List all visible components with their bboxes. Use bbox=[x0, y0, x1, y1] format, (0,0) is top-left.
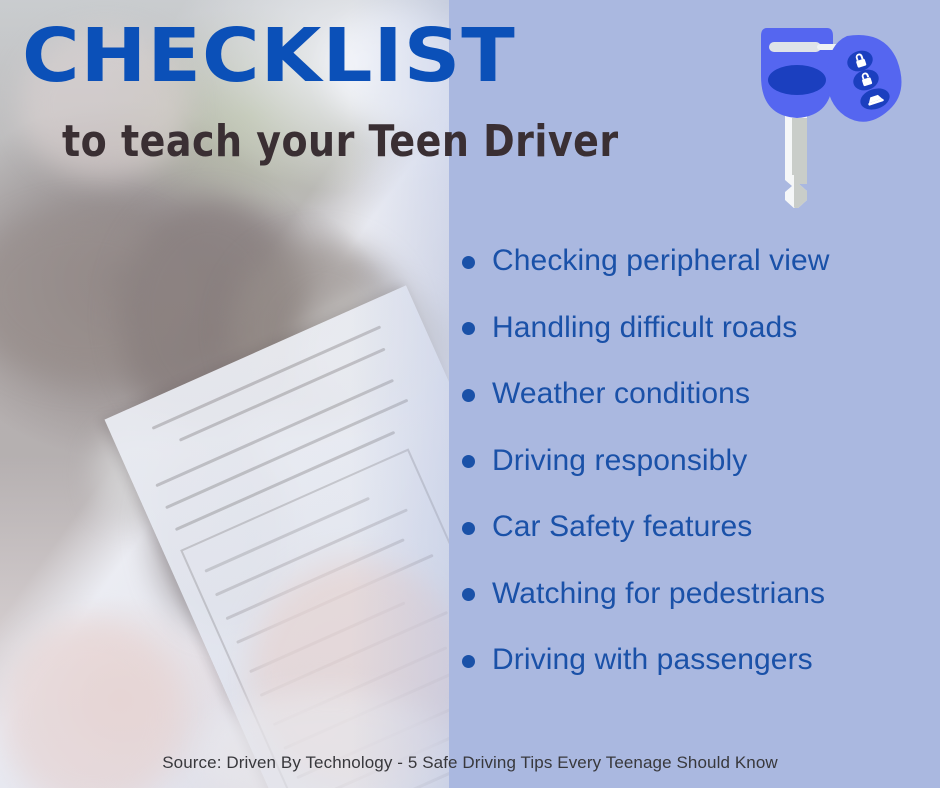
page-title: CHECKLIST bbox=[22, 19, 516, 93]
bullet-dot-icon bbox=[462, 655, 475, 668]
list-item: Watching for pedestrians bbox=[462, 561, 932, 628]
list-item: Driving with passengers bbox=[462, 627, 932, 694]
list-item-label: Car Safety features bbox=[492, 510, 752, 544]
bullet-dot-icon bbox=[462, 389, 475, 402]
source-attribution: Source: Driven By Technology - 5 Safe Dr… bbox=[0, 752, 940, 774]
bullet-dot-icon bbox=[462, 455, 475, 468]
checklist-poster: CHECKLIST to teach your Teen Driver Chec… bbox=[0, 0, 940, 788]
checklist-list: Checking peripheral view Handling diffic… bbox=[462, 228, 932, 694]
page-subtitle: to teach your Teen Driver bbox=[62, 118, 619, 166]
list-item: Weather conditions bbox=[462, 361, 932, 428]
bullet-dot-icon bbox=[462, 588, 475, 601]
list-item-label: Watching for pedestrians bbox=[492, 577, 825, 611]
list-item-label: Driving with passengers bbox=[492, 643, 813, 677]
bullet-dot-icon bbox=[462, 256, 475, 269]
list-item-label: Checking peripheral view bbox=[492, 244, 830, 278]
bullet-dot-icon bbox=[462, 522, 475, 535]
list-item: Handling difficult roads bbox=[462, 295, 932, 362]
list-item-label: Driving responsibly bbox=[492, 444, 747, 478]
list-item: Checking peripheral view bbox=[462, 228, 932, 295]
list-item: Car Safety features bbox=[462, 494, 932, 561]
list-item-label: Handling difficult roads bbox=[492, 311, 797, 345]
bullet-dot-icon bbox=[462, 322, 475, 335]
list-item-label: Weather conditions bbox=[492, 377, 750, 411]
car-key-with-fob-icon bbox=[737, 18, 912, 208]
list-item: Driving responsibly bbox=[462, 428, 932, 495]
